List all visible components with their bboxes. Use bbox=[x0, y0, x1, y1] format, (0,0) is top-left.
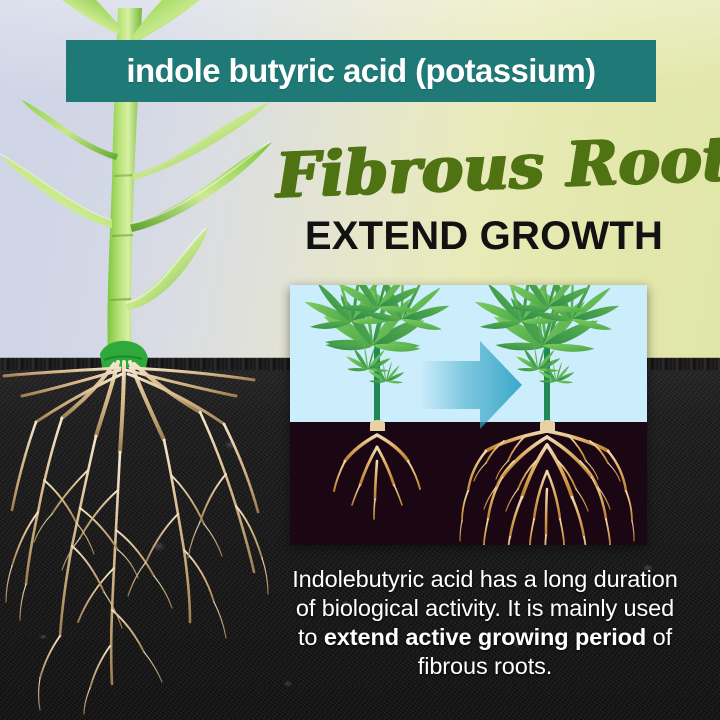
product-title-banner: indole butyric acid (potassium) bbox=[66, 40, 656, 102]
description-bold-phrase: extend active growing period bbox=[324, 624, 646, 650]
sub-headline: EXTEND GROWTH bbox=[278, 214, 690, 258]
growth-arrow bbox=[420, 341, 522, 429]
root-growth-comparison-panel bbox=[290, 285, 647, 545]
comparison-svg bbox=[290, 285, 647, 545]
before-root-system bbox=[334, 425, 420, 519]
script-headline: Fibrous Roots bbox=[275, 118, 698, 218]
after-root-system bbox=[460, 425, 634, 545]
poster-root: indole butyric acid (potassium) Fibrous … bbox=[0, 0, 720, 720]
description-paragraph: Indolebutyric acid has a long duration o… bbox=[285, 565, 685, 681]
product-title-text: indole butyric acid (potassium) bbox=[126, 52, 595, 90]
